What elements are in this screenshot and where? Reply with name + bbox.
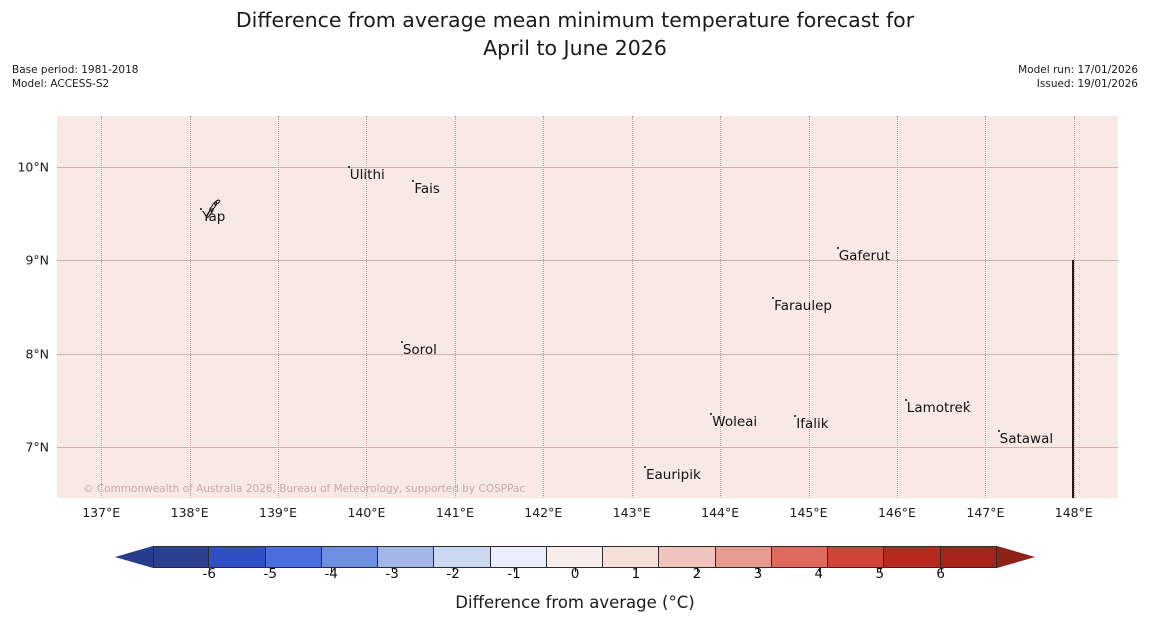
latitude-tick-label: 10°N [17,160,49,175]
colorbar-band [659,546,715,568]
colorbar-tick-label: -1 [507,566,520,582]
colorbar-tick-label: 3 [754,566,763,582]
gridline-horizontal [57,167,1118,168]
place-label: Ifalik [796,418,828,432]
colorbar-tick-label: -6 [203,566,216,582]
longitude-tick-label: 143°E [613,505,651,520]
longitude-tick-label: 138°E [171,505,209,520]
gridline-vertical [190,116,191,498]
colorbar-bands [153,546,997,568]
colorbar-extend-max-arrow [997,546,1035,568]
colorbar[interactable] [115,546,1035,568]
eez-boundary-line [1072,260,1074,498]
yap-island-shape [205,198,223,220]
colorbar-band [209,546,265,568]
colorbar-band [716,546,772,568]
place-label: Ulithi [350,169,385,183]
colorbar-tick-label: 4 [815,566,824,582]
place-label: Fais [414,183,440,197]
gridline-vertical [897,116,898,498]
longitude-tick-label: 147°E [966,505,1004,520]
gridline-horizontal [57,260,1118,261]
colorbar-band [378,546,434,568]
latitude-tick-label: 9°N [25,253,49,268]
colorbar-axis-label: Difference from average (°C) [0,593,1150,612]
colorbar-band [603,546,659,568]
colorbar-band [153,546,209,568]
page-title: Difference from average mean minimum tem… [0,6,1150,62]
place-label: Satawal [1000,433,1053,447]
place-label: Eauripik [646,469,701,483]
copyright-notice: © Commonwealth of Australia 2026, Bureau… [83,483,525,495]
gridline-vertical [101,116,102,498]
colorbar-band [941,546,997,568]
longitude-tick-label: 145°E [790,505,828,520]
longitude-tick-label: 139°E [259,505,297,520]
place-label: Lamotrek [907,402,971,416]
colorbar-band [884,546,940,568]
colorbar-tick-label: -2 [446,566,459,582]
longitude-tick-label: 144°E [701,505,739,520]
latitude-tick-label: 7°N [25,439,49,454]
place-label: Sorol [403,344,437,358]
latitude-tick-label: 8°N [25,346,49,361]
colorbar-tick-label: 1 [632,566,641,582]
longitude-tick-label: 140°E [347,505,385,520]
gridline-horizontal [57,447,1118,448]
colorbar-band [772,546,828,568]
longitude-tick-label: 142°E [524,505,562,520]
colorbar-band [547,546,603,568]
gridline-horizontal [57,354,1118,355]
colorbar-tick-label: 2 [693,566,702,582]
colorbar-band [828,546,884,568]
colorbar-band [434,546,490,568]
place-label: Woleai [712,416,757,430]
colorbar-band [266,546,322,568]
header-right-metadata: Model run: 17/01/2026 Issued: 19/01/2026 [1018,64,1138,91]
colorbar-band [491,546,547,568]
place-label: Gaferut [839,250,890,264]
gridline-vertical [632,116,633,498]
gridline-vertical [455,116,456,498]
colorbar-tick-label: 6 [936,566,945,582]
colorbar-band [322,546,378,568]
colorbar-tick-label: -5 [263,566,276,582]
gridline-vertical [543,116,544,498]
longitude-tick-label: 146°E [878,505,916,520]
colorbar-extend-min-arrow [115,546,153,568]
place-marker-dot [967,401,969,403]
map-plot-area: YapUlithiFaisSorolGaferutFaraulepWoleaiI… [57,116,1118,498]
gridline-vertical [278,116,279,498]
colorbar-tick-label: -3 [385,566,398,582]
header-left-metadata: Base period: 1981-2018 Model: ACCESS-S2 [12,64,138,91]
longitude-tick-label: 141°E [436,505,474,520]
colorbar-tick-label: 5 [875,566,884,582]
place-label: Faraulep [774,300,832,314]
longitude-tick-label: 137°E [82,505,120,520]
gridline-vertical [985,116,986,498]
colorbar-tick-label: 0 [571,566,580,582]
figure-canvas: Difference from average mean minimum tem… [0,0,1150,644]
longitude-tick-label: 148°E [1055,505,1093,520]
colorbar-tick-label: -4 [324,566,337,582]
gridline-vertical [720,116,721,498]
